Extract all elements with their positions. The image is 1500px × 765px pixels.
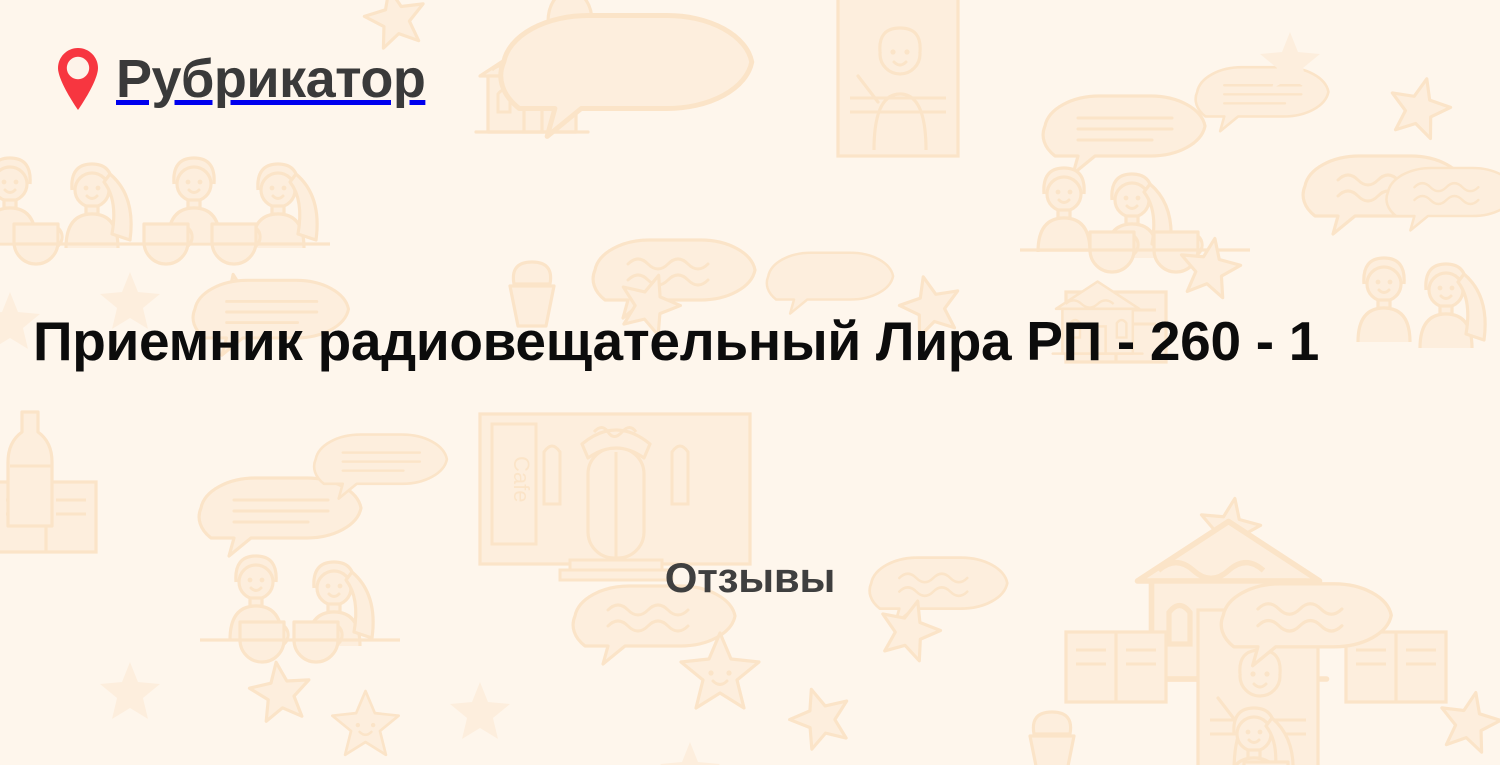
reviews-section-heading: Отзывы xyxy=(0,555,1500,601)
page-root: Рубрикатор Приемник радиовещательный Лир… xyxy=(0,0,1500,765)
map-pin-icon xyxy=(58,48,98,110)
brand-name: Рубрикатор xyxy=(116,52,425,106)
brand-logo-link[interactable]: Рубрикатор xyxy=(58,40,425,118)
page-title: Приемник радиовещательный Лира РП - 260 … xyxy=(33,312,1500,370)
